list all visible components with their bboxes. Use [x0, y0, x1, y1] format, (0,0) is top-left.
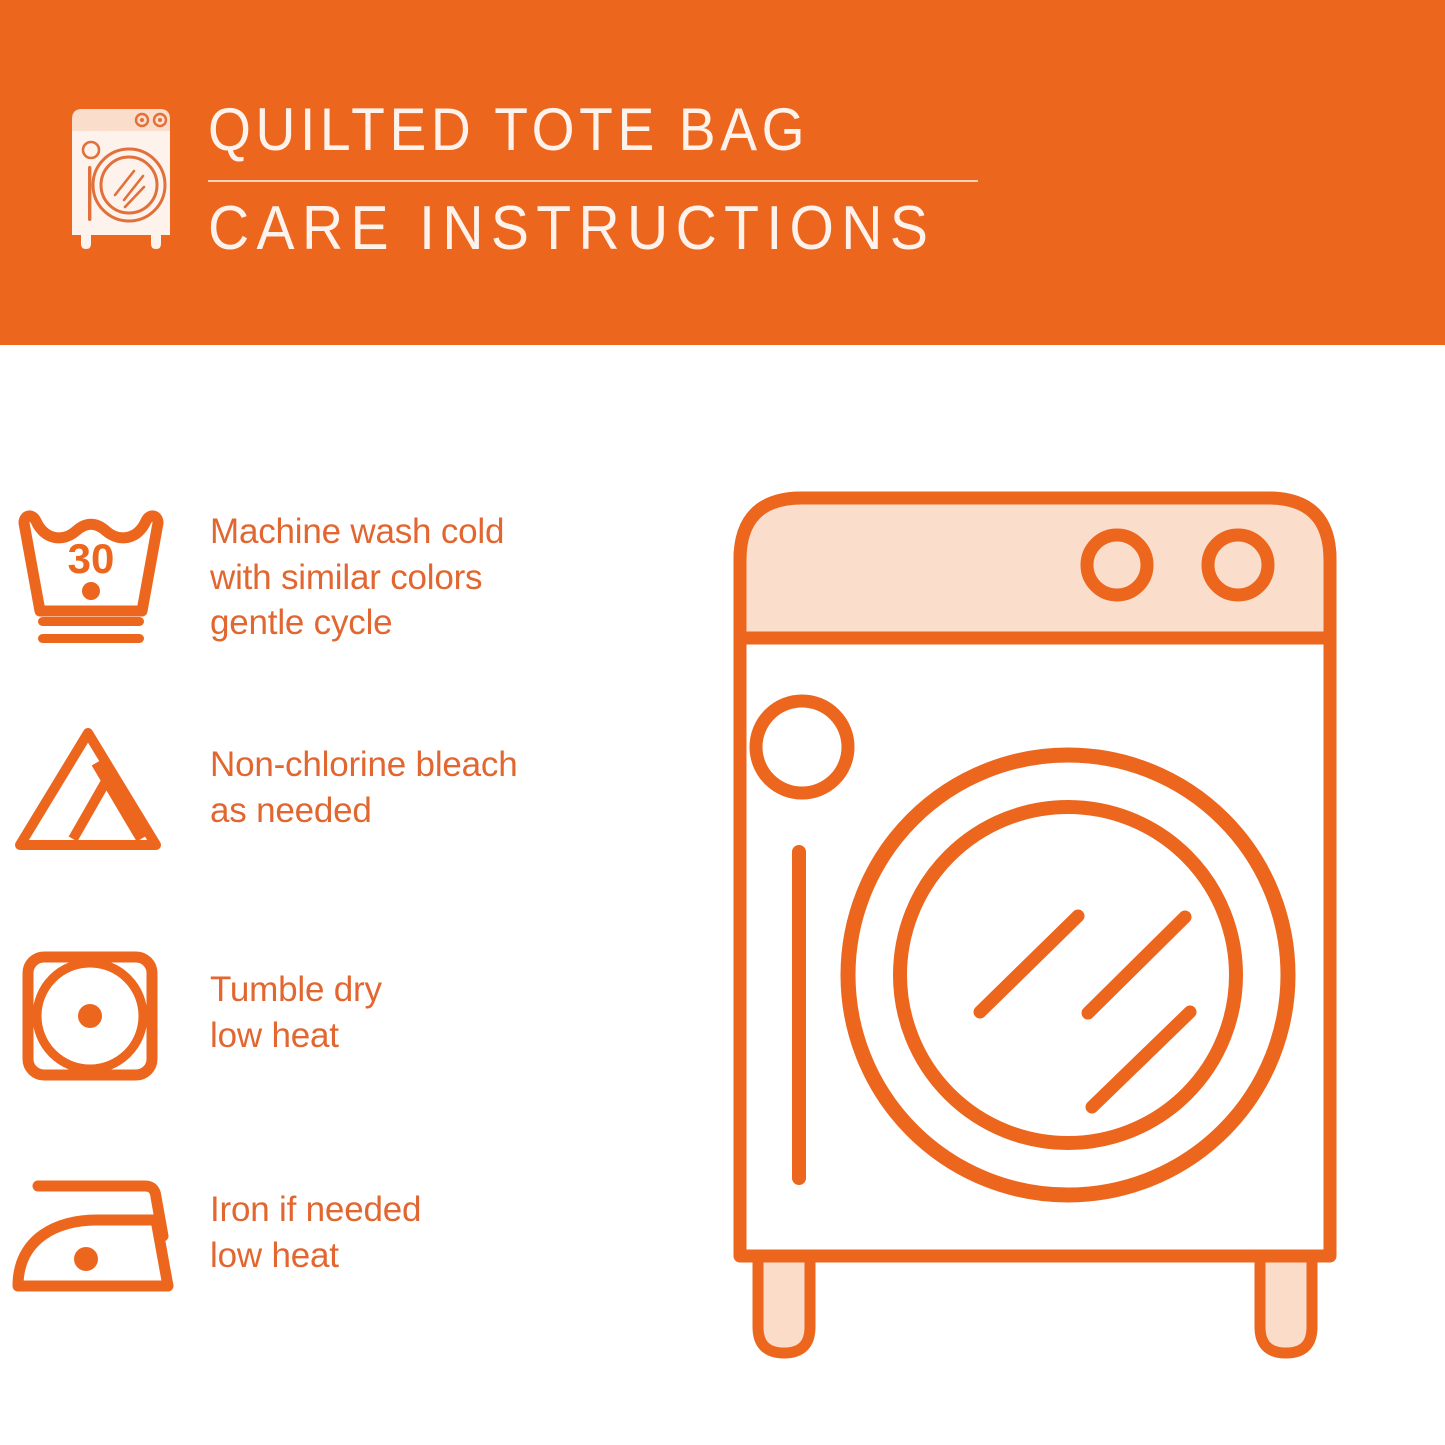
care-symbol-list: 30 Machine wash cold with similar colors…: [0, 345, 700, 1445]
header-title-block: QUILTED TOTE BAG CARE INSTRUCTIONS: [208, 100, 998, 260]
care-text-line: with similar colors: [210, 555, 504, 601]
care-text-line: low heat: [210, 1013, 382, 1059]
care-text-line: low heat: [210, 1233, 421, 1279]
care-item-tumble-dry: Tumble dry low heat: [0, 925, 700, 1100]
care-item-label: Tumble dry low heat: [200, 967, 382, 1058]
care-item-label: Iron if needed low heat: [200, 1187, 421, 1278]
page-subtitle: CARE INSTRUCTIONS: [208, 198, 935, 260]
front-load-washing-machine-illustration: [700, 450, 1420, 1400]
care-text-line: Iron if needed: [210, 1187, 421, 1233]
indicator-bar: [792, 845, 806, 1185]
iron-low-heat-icon: [0, 1145, 200, 1320]
page-title: QUILTED TOTE BAG: [208, 100, 935, 160]
svg-text:30: 30: [68, 535, 115, 582]
care-text-line: Non-chlorine bleach: [210, 742, 518, 788]
care-text-line: Tumble dry: [210, 967, 382, 1013]
header-banner: QUILTED TOTE BAG CARE INSTRUCTIONS: [0, 0, 1445, 345]
care-item-label: Machine wash cold with similar colors ge…: [200, 509, 504, 646]
care-item-bleach: Non-chlorine bleach as needed: [0, 700, 700, 875]
care-text-line: Machine wash cold: [210, 509, 504, 555]
title-divider: [208, 180, 978, 182]
tumble-dry-low-icon: [0, 925, 200, 1100]
care-text-line: gentle cycle: [210, 600, 504, 646]
washing-machine-icon: [62, 103, 180, 253]
bleach-triangle-icon: [0, 700, 200, 875]
care-item-label: Non-chlorine bleach as needed: [200, 742, 518, 833]
leg-right: [1260, 1250, 1312, 1353]
wash-tub-30-icon: 30: [0, 490, 200, 665]
leg-left: [758, 1250, 810, 1353]
care-item-iron: Iron if needed low heat: [0, 1145, 700, 1320]
care-text-line: as needed: [210, 788, 518, 834]
care-item-machine-wash: 30 Machine wash cold with similar colors…: [0, 490, 700, 665]
care-instructions-infographic: QUILTED TOTE BAG CARE INSTRUCTIONS 30: [0, 0, 1445, 1445]
